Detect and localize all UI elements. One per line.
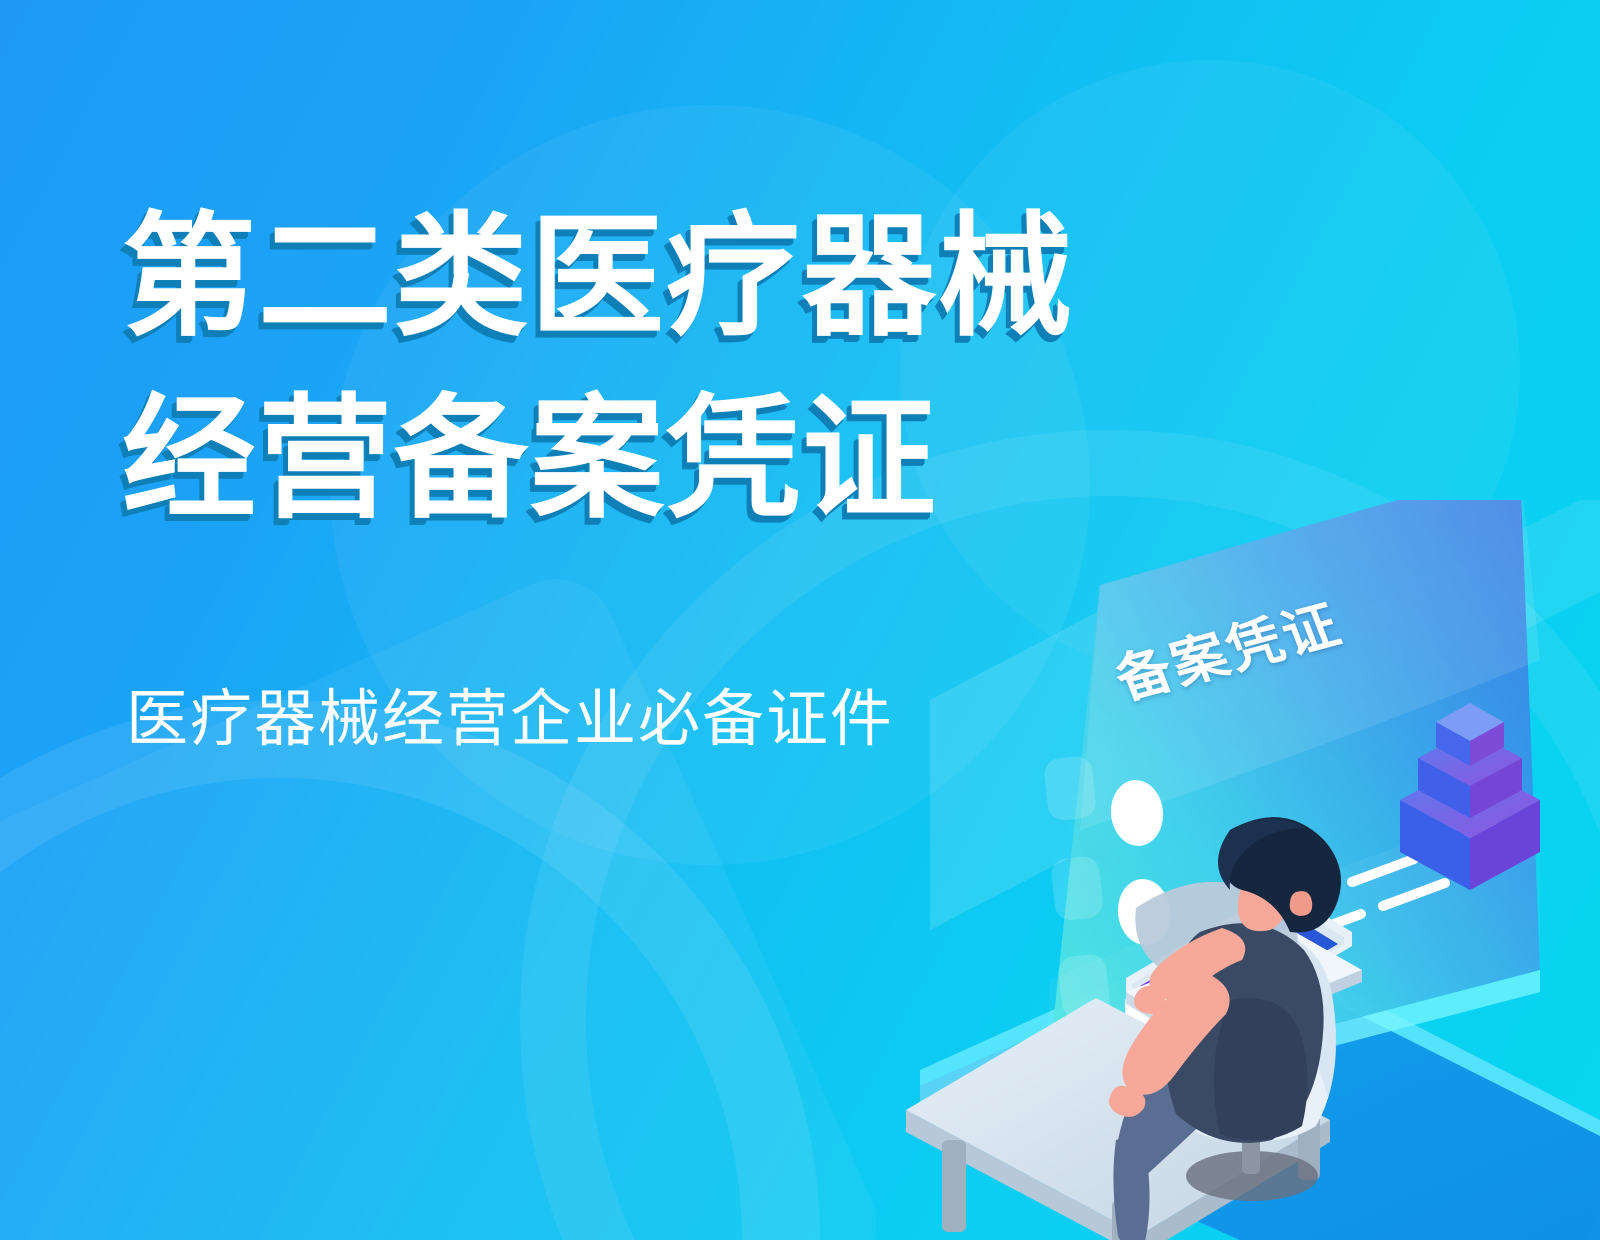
decor-ring-lower-left — [0, 700, 820, 1240]
poster-canvas: 第二类医疗器械 经营备案凭证 医疗器械经营企业必备证件 — [0, 0, 1600, 1240]
page-subtitle: 医疗器械经营企业必备证件 — [126, 668, 894, 758]
page-title: 第二类医疗器械 经营备案凭证 — [122, 186, 1074, 550]
title-line-2: 经营备案凭证 — [122, 368, 1074, 550]
decor-soft-band — [0, 560, 896, 1240]
title-line-1: 第二类医疗器械 — [122, 186, 1074, 368]
